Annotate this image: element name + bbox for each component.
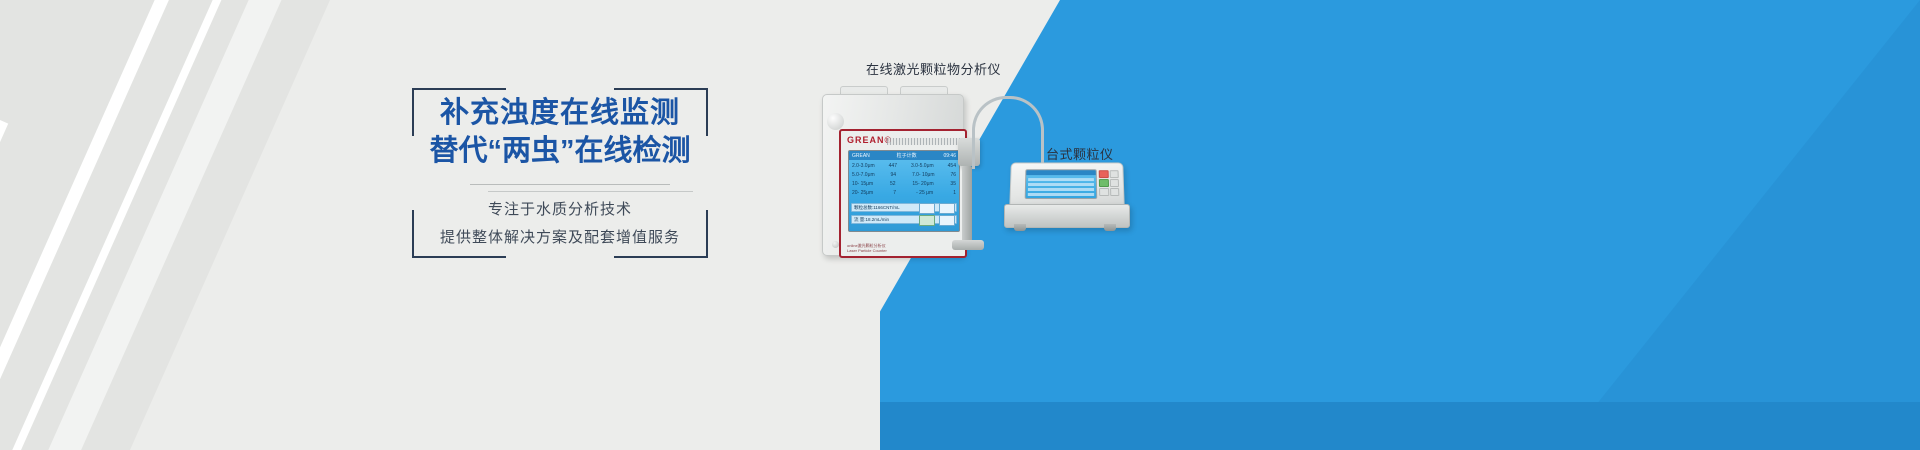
screen-header: GREAN 粒子计数 09:46 [849, 151, 959, 160]
bench-screen-line [1028, 178, 1094, 181]
device-model-label: online激光颗粒分析仪 Laser Particle Counter [847, 243, 887, 253]
row-left-value: 7 [893, 189, 896, 198]
headline-text: 补充浊度在线监测 替代“两虫”在线检测 [412, 94, 708, 170]
headline-block: 补充浊度在线监测 替代“两虫”在线检测 专注于水质分析技术 提供整体解决方案及配… [412, 88, 708, 258]
subtitle-line-1: 专注于水质分析技术 [412, 196, 708, 224]
row-right-label: - 25 μm [916, 189, 933, 198]
screen-time: 09:46 [943, 153, 956, 159]
row-right-value: 454 [948, 162, 956, 171]
bench-screen-line [1028, 188, 1094, 191]
bench-foot [1104, 224, 1116, 231]
bench-key[interactable] [1099, 188, 1109, 196]
divider-line-2 [488, 191, 693, 192]
headline-line-2: 替代“两虫”在线检测 [412, 132, 708, 170]
screen-row: 10- 15μm 52 15- 20μm 35 [851, 180, 957, 189]
device-lcd-screen[interactable]: GREAN 粒子计数 09:46 2.0-3.0μm 447 3.0-5.0μm… [848, 150, 960, 232]
bench-key[interactable] [1109, 170, 1119, 178]
mounting-pole [962, 166, 972, 242]
row-right-label: 7.0- 10μm [912, 171, 935, 180]
row-right-label: 15- 20μm [912, 180, 933, 189]
row-left-value: 52 [890, 180, 896, 189]
headline-line-1: 补充浊度在线监测 [412, 94, 708, 132]
subtitle-text: 专注于水质分析技术 提供整体解决方案及配套增值服务 [412, 196, 708, 252]
screen-row: 5.0-7.0μm 94 7.0- 10μm 76 [851, 171, 957, 180]
bench-key[interactable] [1099, 170, 1109, 178]
online-analyzer-device: GREAN® GREAN 粒子计数 09:46 2.0-3.0μm 447 3.… [816, 82, 976, 262]
device-enclosure: GREAN® GREAN 粒子计数 09:46 2.0-3.0μm 447 3.… [822, 94, 964, 256]
row-right-label: 3.0-5.0μm [911, 162, 934, 171]
bench-foot [1014, 224, 1026, 231]
bench-screen-header [1026, 170, 1096, 175]
bench-screen-line [1028, 183, 1094, 186]
mounting-foot [952, 240, 984, 250]
divider-line-1 [470, 184, 670, 185]
bench-screen-line [1028, 193, 1094, 196]
model-label-en: Laser Particle Counter [847, 248, 887, 253]
row-left-value: 447 [889, 162, 897, 171]
bench-key[interactable] [1110, 188, 1120, 196]
subtitle-line-2: 提供整体解决方案及配套增值服务 [412, 224, 708, 252]
row-left-label: 2.0-3.0μm [852, 162, 875, 171]
bench-key[interactable] [1099, 179, 1109, 187]
row-left-label: 5.0-7.0μm [852, 171, 875, 180]
device-front-panel: GREAN® GREAN 粒子计数 09:46 2.0-3.0μm 447 3.… [839, 129, 967, 258]
bench-lcd-screen[interactable] [1025, 169, 1098, 199]
bench-key[interactable] [1109, 179, 1119, 187]
connecting-tube [972, 96, 1044, 169]
row-left-label: 10- 15μm [852, 180, 873, 189]
brand-logo: GREAN® [847, 135, 892, 145]
label-bench-counter: 台式颗粒仪 [1046, 144, 1114, 163]
screen-row: 20- 25μm 7 - 25 μm 1 [851, 189, 957, 198]
product-banner: 补充浊度在线监测 替代“两虫”在线检测 专注于水质分析技术 提供整体解决方案及配… [0, 0, 1920, 450]
bench-keypad[interactable] [1099, 170, 1120, 196]
row-left-value: 94 [891, 171, 897, 180]
screen-button[interactable] [939, 215, 955, 226]
screen-button[interactable] [919, 203, 935, 214]
screw-icon [832, 241, 839, 248]
screen-row: 2.0-3.0μm 447 3.0-5.0μm 454 [851, 162, 957, 171]
screen-brand: GREAN [852, 153, 870, 159]
row-right-value: 76 [950, 171, 956, 180]
device-knob [827, 113, 844, 130]
bench-counter-device [1004, 162, 1134, 248]
screen-button[interactable] [939, 203, 955, 214]
label-online-analyzer: 在线激光颗粒物分析仪 [866, 59, 1001, 78]
screen-button[interactable] [919, 215, 935, 226]
row-right-value: 35 [950, 180, 956, 189]
screen-title: 粒子计数 [897, 152, 917, 159]
screen-data-rows: 2.0-3.0μm 447 3.0-5.0μm 454 5.0-7.0μm 94… [851, 162, 957, 198]
vent-grille [887, 138, 961, 145]
row-right-value: 1 [953, 189, 956, 198]
row-left-label: 20- 25μm [852, 189, 873, 198]
